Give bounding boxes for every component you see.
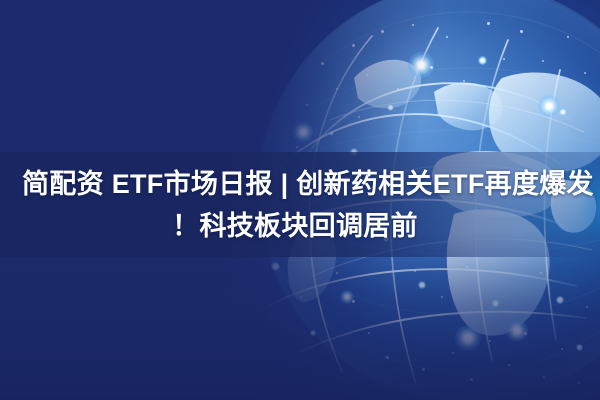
headline-line-2: ！科技板块回调居前: [22, 205, 578, 247]
headline-block: 简配资 ETF市场日报 | 创新药相关ETF再度爆发 ！科技板块回调居前: [0, 152, 600, 257]
etf-news-banner: 简配资 ETF市场日报 | 创新药相关ETF再度爆发 ！科技板块回调居前: [0, 0, 600, 400]
headline-line-1: 简配资 ETF市场日报 | 创新药相关ETF再度爆发: [22, 163, 578, 205]
